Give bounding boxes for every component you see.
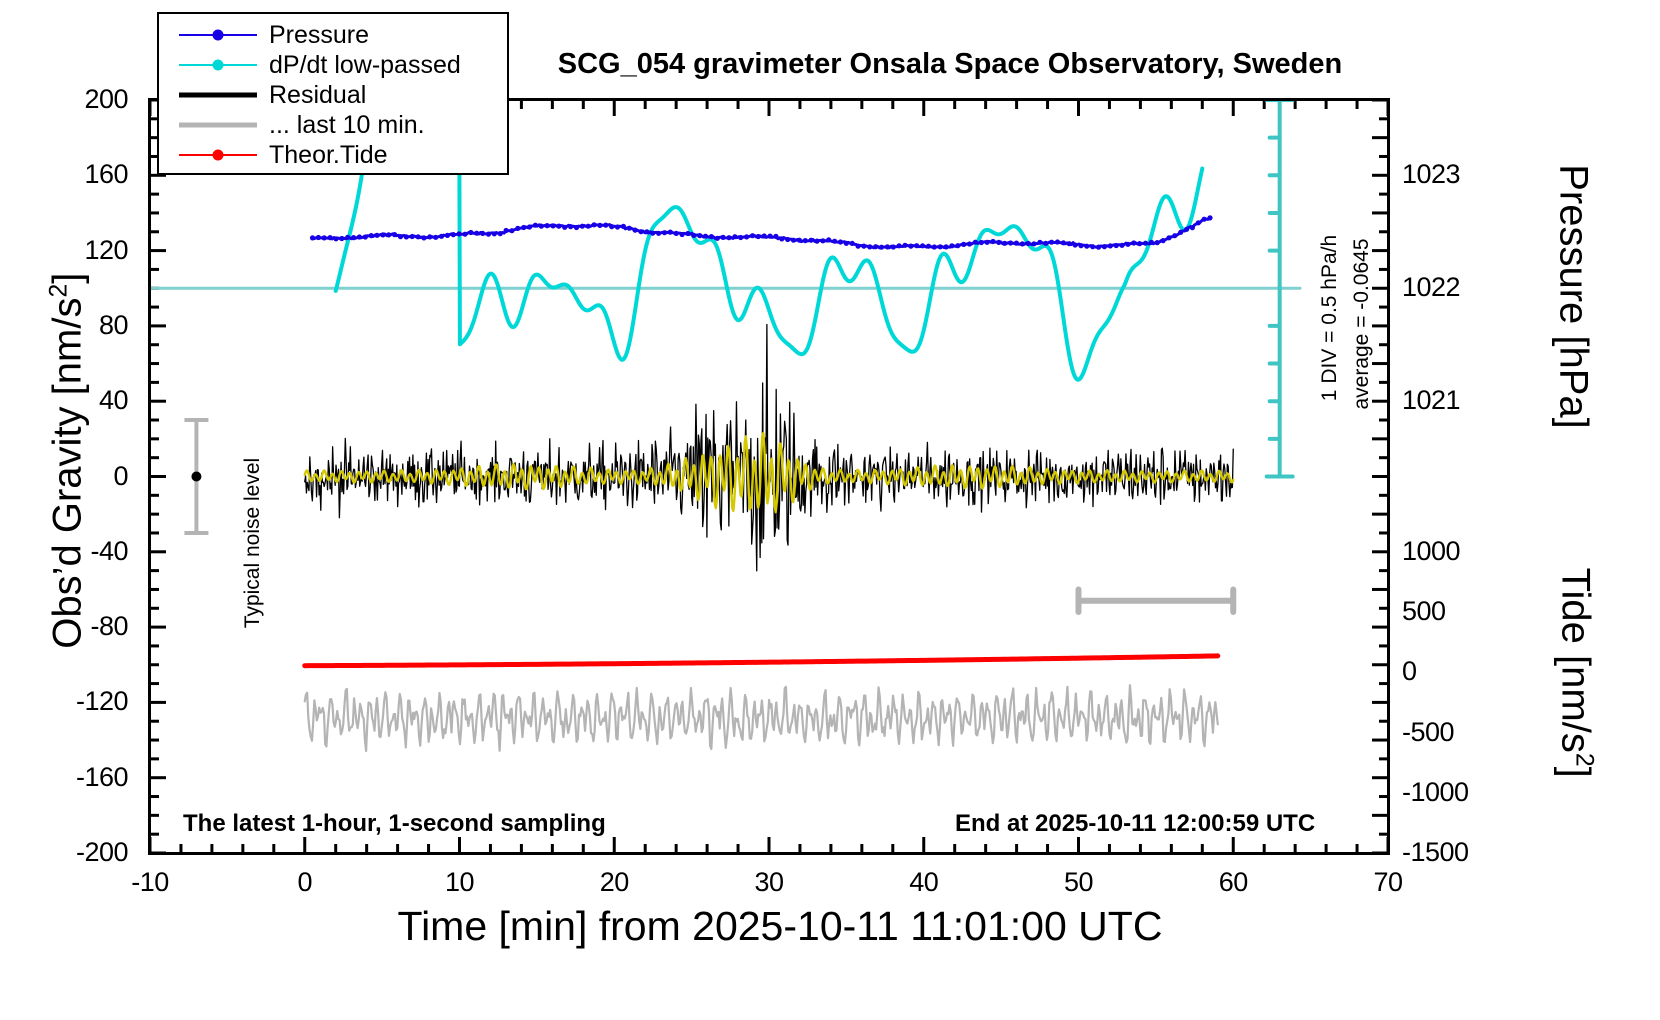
tide-tick-label: 500 [1402,596,1542,627]
footer-note-left: The latest 1-hour, 1-second sampling [183,810,606,838]
y-axis-label-tide: Tide [nm/s2] [1552,493,1597,853]
x-tick-label: 30 [709,867,829,898]
chart-root: SCG_054 gravimeter Onsala Space Observat… [0,0,1660,1020]
legend-item-label: Theor.Tide [269,143,388,168]
chart-legend: PressuredP/dt low-passedResidual... last… [157,12,509,175]
y-tick-label: 120 [8,235,128,266]
x-tick-label: 20 [554,867,674,898]
pressure-tick-label: 1022 [1402,272,1542,303]
y-tick-label: -120 [8,686,128,717]
legend-item-label: dP/dt low-passed [269,53,461,78]
legend-rows: PressuredP/dt low-passedResidual... last… [159,20,507,170]
legend-item-label: Residual [269,83,366,108]
y-tick-label: 160 [8,159,128,190]
div-scale-label: 1 DIV = 0.5 hPa/h [1318,218,1342,418]
pressure-tick-label: 1021 [1402,385,1542,416]
x-tick-label: 0 [245,867,365,898]
y-tick-label: 200 [8,84,128,115]
y-tick-label: -160 [8,762,128,793]
legend-item-label: ... last 10 min. [269,113,425,138]
tide-tick-label: 1000 [1402,536,1542,567]
x-tick-label: 60 [1173,867,1293,898]
y-tick-label: -40 [8,536,128,567]
legend-swatch-icon [179,54,257,76]
plot-frame [148,98,1390,855]
legend-swatch-icon [179,144,257,166]
noise-level-label: Typical noise level [241,433,265,653]
legend-item-3: ... last 10 min. [159,110,507,140]
average-label: average = -0.0645 [1350,224,1374,424]
x-tick-label: 70 [1328,867,1448,898]
y-tick-label: 40 [8,385,128,416]
tide-tick-label: -500 [1402,717,1542,748]
legend-swatch-icon [179,24,257,46]
x-tick-label: 40 [864,867,984,898]
legend-item-2: Residual [159,80,507,110]
legend-item-0: Pressure [159,20,507,50]
legend-item-4: Theor.Tide [159,140,507,170]
pressure-tick-label: 1023 [1402,159,1542,190]
legend-swatch-icon [179,114,257,136]
legend-item-1: dP/dt low-passed [159,50,507,80]
y-tick-label: -80 [8,611,128,642]
footer-note-right: End at 2025-10-11 12:00:59 UTC [955,810,1315,838]
x-axis-label: Time [min] from 2025-10-11 11:01:00 UTC [330,903,1230,950]
x-tick-label: 10 [400,867,520,898]
tide-tick-label: 0 [1402,656,1542,687]
tide-tick-label: -1500 [1402,837,1542,868]
x-tick-label: 50 [1019,867,1139,898]
y-tick-label: 0 [8,461,128,492]
legend-swatch-icon [179,84,257,106]
chart-title: SCG_054 gravimeter Onsala Space Observat… [450,48,1450,81]
y-tick-label: 80 [8,310,128,341]
y-axis-label-pressure: Pressure [hPa] [1551,87,1596,507]
x-tick-label: -10 [90,867,210,898]
y-tick-label: -200 [8,837,128,868]
legend-item-label: Pressure [269,23,369,48]
tide-tick-label: -1000 [1402,777,1542,808]
